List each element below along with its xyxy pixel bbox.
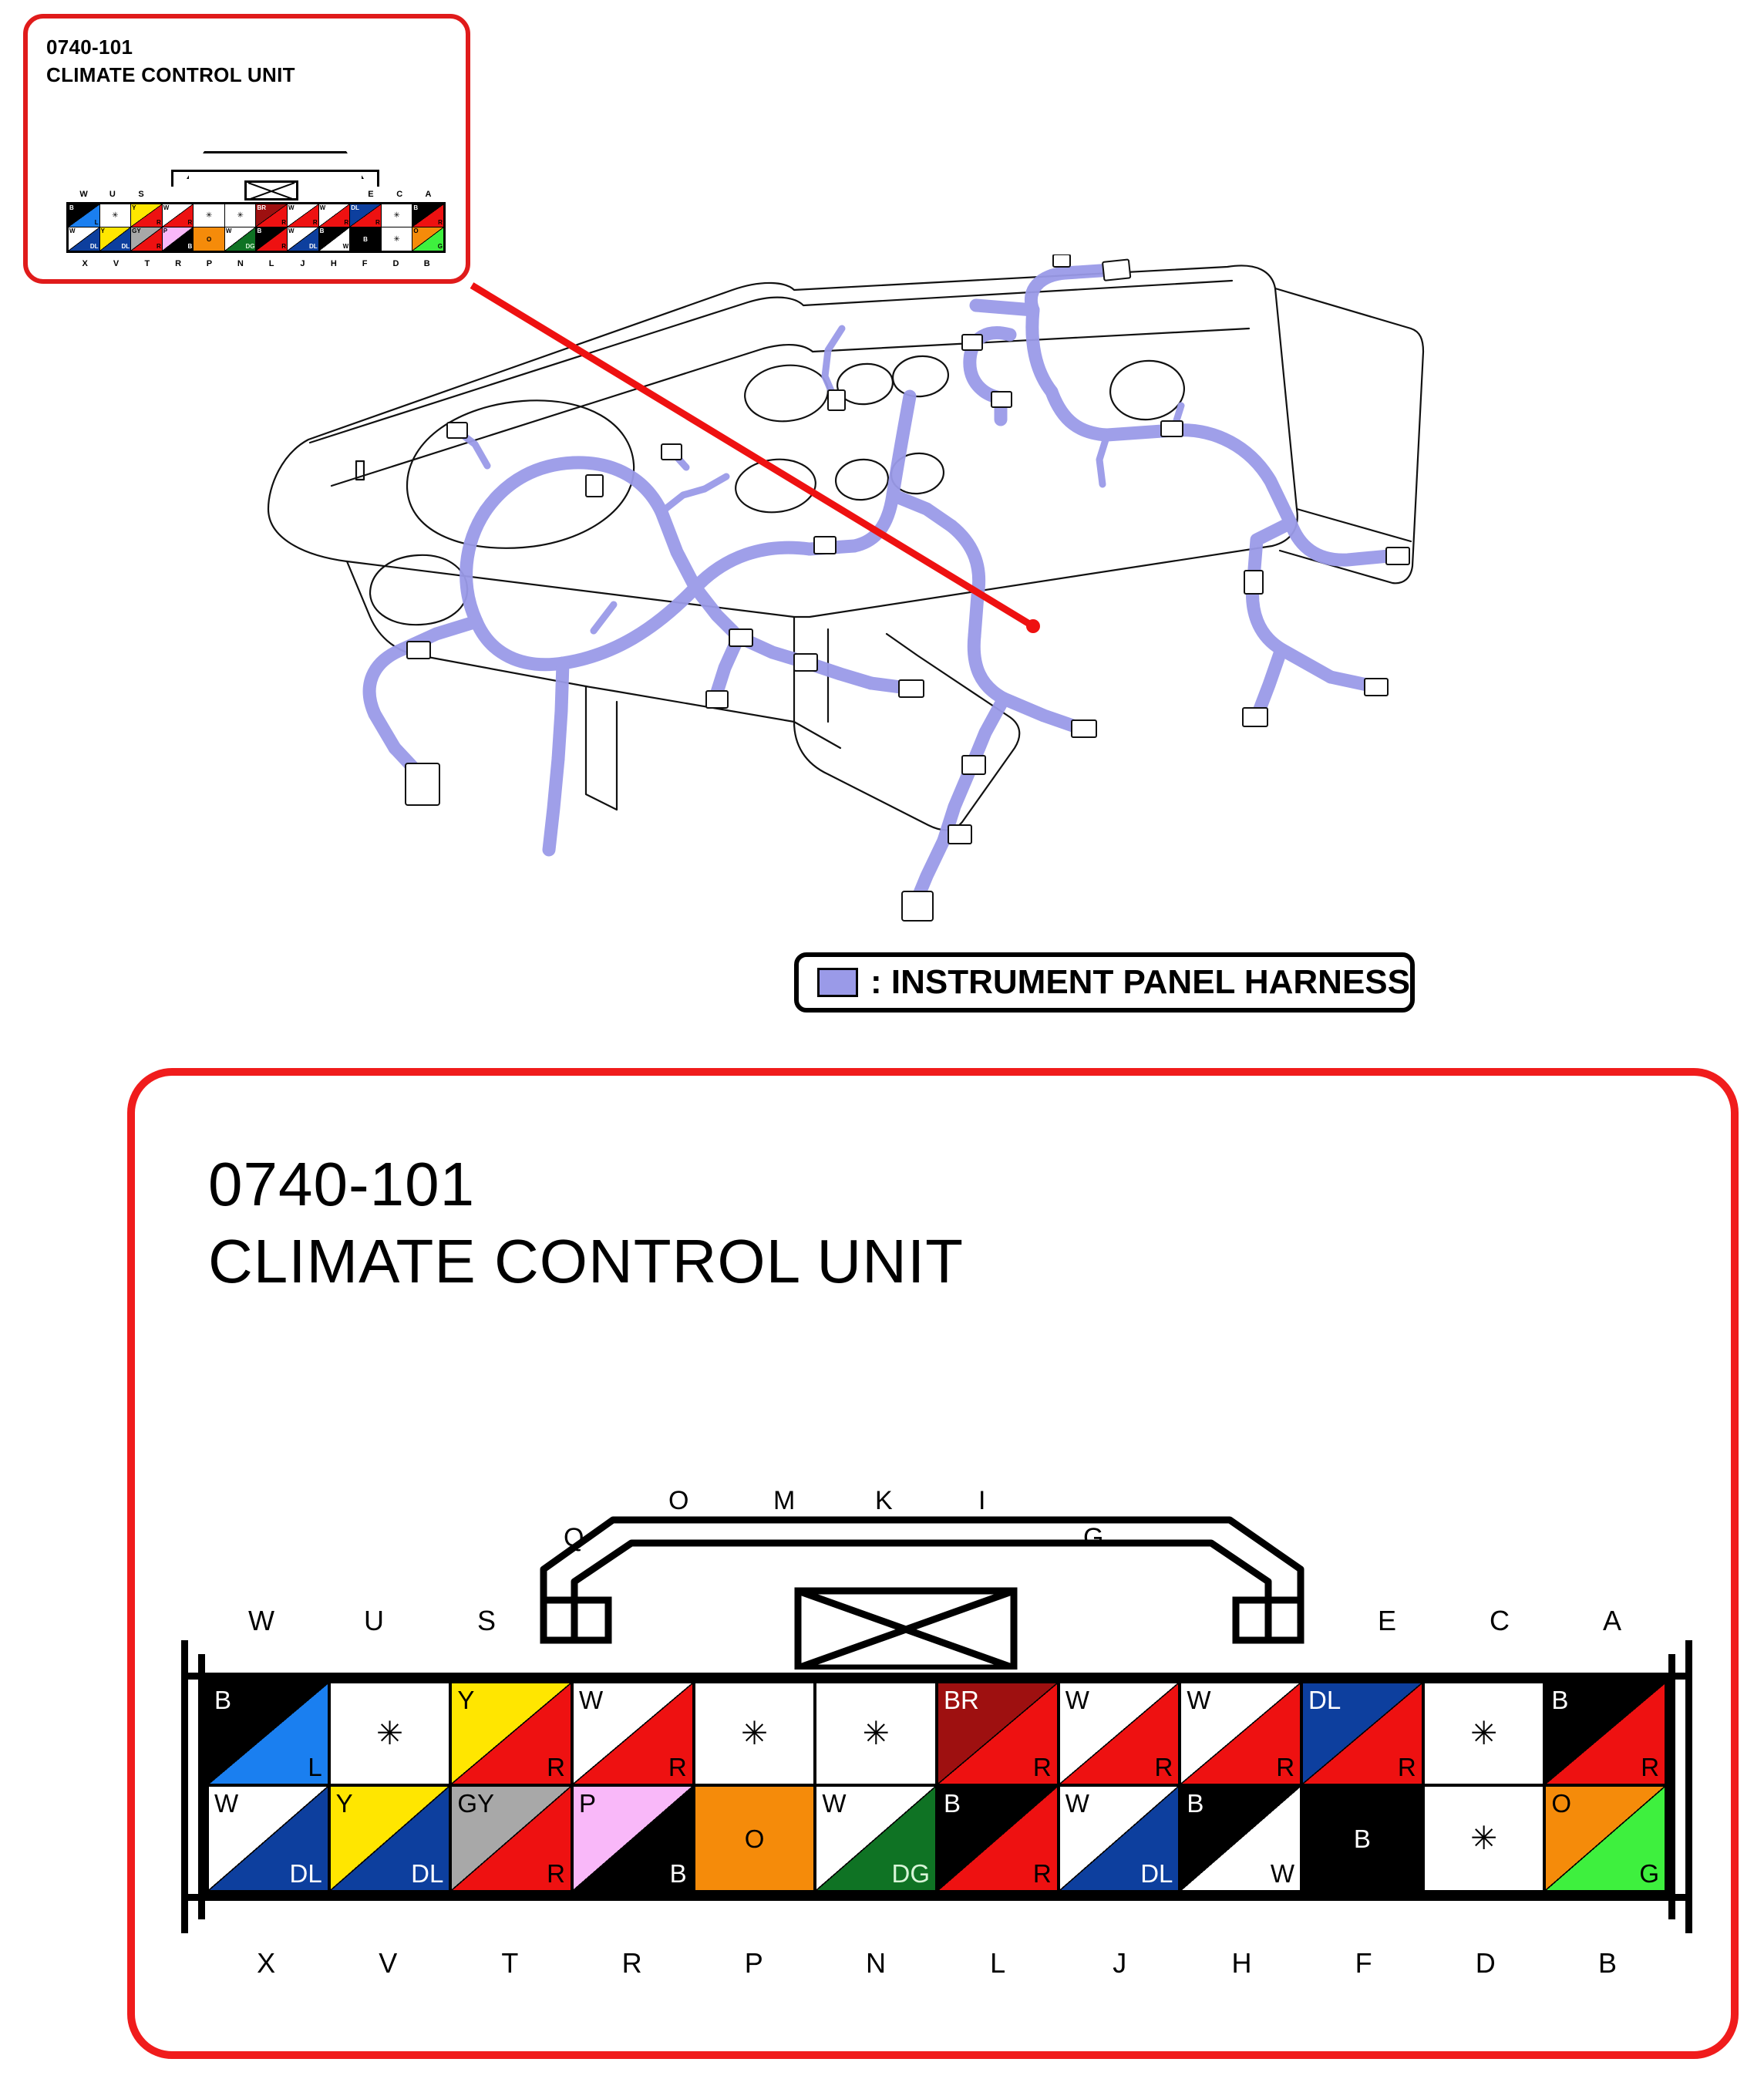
inset-pin-wire-trace-L: R <box>281 244 286 250</box>
inset-pin-cell-L: BR <box>256 227 288 251</box>
pin-cell-V: YDL <box>331 1787 453 1890</box>
inset-pin-cell-X: WDL <box>69 227 100 251</box>
top-pin-label-W: W <box>205 1605 318 1637</box>
pin-cell-H: BW <box>1181 1787 1303 1890</box>
pin-row-top: BL✳YRWR✳✳BRRWRWRDLR✳BR <box>209 1683 1665 1787</box>
inset-pin-cell-F: B <box>350 227 382 251</box>
pin-cell-T: GYR <box>452 1787 574 1890</box>
inset-pin-wire-primary-T: GY <box>132 228 141 234</box>
inset-pin-wire-primary-I: W <box>288 205 295 211</box>
pin-wire-trace-H: W <box>1271 1861 1294 1886</box>
connector-code-title: 0740-101 <box>208 1149 475 1220</box>
instrument-panel-illustration <box>254 254 1426 925</box>
connector-pin-bracket: WUSECA BL✳YRWR✳✳BRRWRWRDLR✳BR WDLYDLGYRP… <box>181 1640 1692 1933</box>
inset-pin-cell-S: YR <box>131 204 163 227</box>
inset-pin-wire-trace-I: R <box>313 220 318 226</box>
pin-cell-L: BR <box>938 1787 1060 1890</box>
inset-pin-wire-primary-V: Y <box>101 228 105 234</box>
bracket-right-outer <box>1685 1640 1692 1933</box>
pin-wire-trace-W: L <box>308 1754 321 1780</box>
inset-pin-cell-K: BRR <box>256 204 288 227</box>
inset-pin-cell-J: WDL <box>288 227 319 251</box>
bracket-right-inner <box>1668 1654 1675 1919</box>
legend-box: : INSTRUMENT PANEL HARNESS <box>794 952 1415 1013</box>
pin-wire-trace-I: R <box>1155 1754 1173 1780</box>
pin-cell-O: ✳ <box>695 1683 817 1787</box>
inset-pin-cell-G: WR <box>319 204 351 227</box>
inset-top-pin-label-W: W <box>69 190 98 199</box>
bottom-pin-label-B: B <box>1547 1947 1668 1980</box>
inset-pin-cell-P: O <box>194 227 225 251</box>
inset-pin-cell-O: ✳ <box>194 204 225 227</box>
inset-pin-wire-trace-B: G <box>438 244 443 250</box>
bottom-pin-label-J: J <box>1059 1947 1180 1980</box>
top-pin-label-A: A <box>1556 1605 1668 1637</box>
top-pin-label-E: E <box>1331 1605 1443 1637</box>
inset-pin-unused-star-icon: ✳ <box>382 204 412 227</box>
pin-wire-trace-G: R <box>1276 1754 1294 1780</box>
pin-wire-trace-K: R <box>1033 1754 1052 1780</box>
inset-pin-wire-primary-H: B <box>320 228 325 234</box>
inset-top-pin-label-U: U <box>98 190 126 199</box>
inset-pin-cell-Q: WR <box>163 204 194 227</box>
inset-pin-cell-C: ✳ <box>382 204 413 227</box>
pin-cell-B: OG <box>1546 1787 1665 1890</box>
inset-name-label: CLIMATE CONTROL UNIT <box>46 63 295 87</box>
inset-pin-wire-primary-X: W <box>69 228 76 234</box>
inset-top-pin-label-blank-7 <box>271 190 299 199</box>
inset-bottom-pin-label-B: B <box>412 259 443 268</box>
inset-top-pin-label-blank-3 <box>156 190 184 199</box>
bottom-pin-label-R: R <box>571 1947 693 1980</box>
inset-top-pin-label-C: C <box>385 190 414 199</box>
inset-bottom-pin-label-P: P <box>194 259 224 268</box>
inset-pin-cell-B: OG <box>412 227 443 251</box>
inset-pin-cell-D: ✳ <box>382 227 413 251</box>
pin-cell-U: ✳ <box>331 1683 453 1787</box>
inset-pin-cell-I: WR <box>288 204 319 227</box>
inset-pin-wire-primary-N: W <box>226 228 232 234</box>
pin-wire-primary-B: O <box>1551 1791 1571 1816</box>
pin-cell-X: WDL <box>209 1787 331 1890</box>
bottom-pin-label-X: X <box>205 1947 327 1980</box>
top-pin-label-blank-8 <box>1106 1605 1218 1637</box>
pin-cell-Q: WR <box>574 1683 695 1787</box>
inset-bottom-pin-label-N: N <box>225 259 256 268</box>
inset-pin-wire-color-F: B <box>350 227 381 251</box>
pin-wire-primary-L: B <box>944 1791 961 1816</box>
pin-cell-J: WDL <box>1060 1787 1182 1890</box>
pin-cell-C: ✳ <box>1425 1683 1547 1787</box>
inset-bottom-pin-label-H: H <box>318 259 349 268</box>
inset-pin-wire-trace-H: W <box>343 244 349 250</box>
bracket-left-inner <box>198 1654 205 1919</box>
inset-pin-wire-trace-V: DL <box>121 244 130 250</box>
legend-label: : INSTRUMENT PANEL HARNESS <box>870 963 1410 1002</box>
bracket-left-outer <box>181 1640 188 1933</box>
inset-pin-wire-trace-K: R <box>281 220 286 226</box>
pin-wire-primary-Q: W <box>579 1687 603 1713</box>
pin-cell-K: BRR <box>938 1683 1060 1787</box>
pin-cell-A: BR <box>1546 1683 1665 1787</box>
pin-wire-trace-V: DL <box>411 1861 443 1886</box>
inset-pin-unused-star-icon: ✳ <box>194 204 224 227</box>
inset-pin-cell-M: ✳ <box>225 204 257 227</box>
hood-label-G: G <box>1083 1523 1103 1553</box>
inset-pin-row-top: BL✳YRWR✳✳BRRWRWRDLR✳BR <box>69 204 443 227</box>
pin-wire-primary-X: W <box>214 1791 238 1816</box>
top-pin-label-S: S <box>430 1605 543 1637</box>
connector-name-title: CLIMATE CONTROL UNIT <box>208 1226 964 1297</box>
inset-bottom-pin-labels: XVTRPNLJHFDB <box>69 259 443 268</box>
inset-top-pin-label-blank-8 <box>299 190 328 199</box>
bottom-pin-label-V: V <box>327 1947 449 1980</box>
hood-label-O: O <box>668 1486 688 1516</box>
inset-pin-wire-trace-W: L <box>95 220 99 226</box>
top-pin-label-blank-3 <box>543 1605 655 1637</box>
inset-bottom-pin-label-F: F <box>349 259 380 268</box>
inset-pin-wire-trace-X: DL <box>90 244 99 250</box>
pin-wire-trace-B: G <box>1639 1861 1659 1886</box>
inset-pin-wire-primary-W: B <box>69 205 74 211</box>
pin-wire-trace-E: R <box>1398 1754 1416 1780</box>
bottom-pin-label-F: F <box>1303 1947 1425 1980</box>
inset-pin-unused-star-icon: ✳ <box>100 204 131 227</box>
bottom-pin-label-L: L <box>937 1947 1059 1980</box>
top-pin-label-U: U <box>318 1605 430 1637</box>
bottom-pin-label-P: P <box>693 1947 815 1980</box>
inset-bottom-pin-label-L: L <box>256 259 287 268</box>
pin-cell-D: ✳ <box>1425 1787 1547 1890</box>
pin-wire-primary-V: Y <box>336 1791 353 1816</box>
pin-wire-primary-T: GY <box>457 1791 494 1816</box>
inset-pin-cell-A: BR <box>412 204 443 227</box>
inset-pin-wire-trace-T: R <box>157 244 161 250</box>
pin-unused-star-icon: ✳ <box>331 1683 449 1784</box>
inset-pin-wire-primary-B: O <box>413 228 418 234</box>
inset-pin-wire-primary-K: BR <box>257 205 266 211</box>
pin-wire-primary-E: DL <box>1308 1687 1341 1713</box>
inset-pin-wire-primary-Q: W <box>163 205 170 211</box>
inset-connector-diagram: WUSECA BL✳YRWR✳✳BRRWRWRDLR✳BR WDLYDLGYRP… <box>56 134 456 273</box>
bottom-pin-label-D: D <box>1425 1947 1547 1980</box>
pin-wire-primary-I: W <box>1065 1687 1089 1713</box>
inset-pin-wire-trace-Q: R <box>188 220 193 226</box>
pin-wire-primary-A: B <box>1551 1687 1568 1713</box>
inset-pin-cell-N: WDG <box>225 227 257 251</box>
pin-cell-G: WR <box>1181 1683 1303 1787</box>
pin-wire-primary-H: B <box>1187 1791 1203 1816</box>
inset-pin-cell-E: DLR <box>350 204 382 227</box>
top-pin-label-C: C <box>1443 1605 1556 1637</box>
pin-wire-trace-S: R <box>547 1754 565 1780</box>
pin-unused-star-icon: ✳ <box>1425 1787 1543 1890</box>
top-pin-label-blank-7 <box>993 1605 1106 1637</box>
inset-top-pin-label-blank-5 <box>213 190 241 199</box>
inset-pin-unused-star-icon: ✳ <box>382 227 412 251</box>
inset-pin-wire-color-P: O <box>194 227 224 251</box>
pin-cell-W: BL <box>209 1683 331 1787</box>
hood-label-I: I <box>978 1486 985 1516</box>
inset-pin-wire-primary-J: W <box>288 228 295 234</box>
inset-pin-cell-V: YDL <box>100 227 132 251</box>
bottom-pin-label-T: T <box>449 1947 571 1980</box>
pin-row-bottom: WDLYDLGYRPBOWDGBRWDLBWB✳OG <box>209 1787 1665 1890</box>
inset-bottom-pin-label-R: R <box>163 259 194 268</box>
inset-pin-wire-trace-G: R <box>344 220 348 226</box>
inset-pin-cell-U: ✳ <box>100 204 132 227</box>
inset-code-label: 0740-101 <box>46 35 133 59</box>
inset-pin-wire-trace-N: DG <box>245 244 254 250</box>
bracket-top-rail <box>181 1673 1692 1680</box>
pin-wire-primary-K: BR <box>944 1687 979 1713</box>
pin-wire-primary-W: B <box>214 1687 231 1713</box>
inset-pin-cell-H: BW <box>319 227 351 251</box>
top-pin-label-blank-9 <box>1218 1605 1331 1637</box>
pin-cell-P: O <box>695 1787 817 1890</box>
inset-pin-wire-primary-E: DL <box>351 205 359 211</box>
inset-top-pin-label-E: E <box>356 190 385 199</box>
top-pin-label-row: WUSECA <box>205 1605 1668 1637</box>
pin-wire-trace-R: B <box>670 1861 687 1886</box>
pin-wire-color-P: O <box>695 1787 814 1890</box>
inset-pin-wire-trace-R: B <box>188 244 193 250</box>
inset-pin-wire-trace-E: R <box>375 220 380 226</box>
pin-wire-trace-A: R <box>1641 1754 1659 1780</box>
inset-pin-wire-primary-R: P <box>163 228 167 234</box>
bottom-pin-label-row: XVTRPNLJHFDB <box>205 1947 1668 1980</box>
inset-pin-row-bottom: WDLYDLGYRPBOWDGBRWDLBWB✳OG <box>69 227 443 251</box>
connector-pin-grid: BL✳YRWR✳✳BRRWRWRDLR✳BR WDLYDLGYRPBOWDGBR… <box>205 1680 1668 1894</box>
inset-pin-wire-primary-S: Y <box>132 205 136 211</box>
bracket-bottom-rail <box>181 1894 1692 1901</box>
pin-unused-star-icon: ✳ <box>695 1683 814 1784</box>
pin-wire-primary-R: P <box>579 1791 596 1816</box>
inset-top-pin-label-blank-6 <box>241 190 270 199</box>
inset-pin-cell-W: BL <box>69 204 100 227</box>
inset-callout-box: 0740-101 CLIMATE CONTROL UNIT WUSECA BL✳… <box>23 14 470 284</box>
connector-detail-panel: 0740-101 CLIMATE CONTROL UNIT Q O M K I … <box>127 1068 1739 2059</box>
pin-wire-trace-N: DG <box>892 1861 931 1886</box>
top-pin-label-blank-4 <box>655 1605 768 1637</box>
pin-cell-R: PB <box>574 1787 695 1890</box>
hood-label-Q: Q <box>564 1523 584 1553</box>
pin-cell-M: ✳ <box>816 1683 938 1787</box>
pin-unused-star-icon: ✳ <box>816 1683 935 1784</box>
inset-bottom-pin-label-T: T <box>132 259 163 268</box>
hood-label-M: M <box>773 1486 795 1516</box>
inset-bottom-pin-label-X: X <box>69 259 100 268</box>
inset-pin-wire-trace-A: R <box>438 220 443 226</box>
connector-assembly: Q O M K I G WUSECA BL✳YRWR✳✳BRRWRWRDLR✳B… <box>181 1477 1692 1986</box>
inset-pin-grid: BL✳YRWR✳✳BRRWRWRDLR✳BR WDLYDLGYRPBOWDGBR… <box>66 202 446 253</box>
bottom-pin-label-H: H <box>1180 1947 1302 1980</box>
inset-bottom-pin-label-J: J <box>287 259 318 268</box>
pin-cell-N: WDG <box>816 1787 938 1890</box>
harness-color-swatch <box>817 968 858 997</box>
inset-top-pin-labels: WUSECA <box>69 190 443 199</box>
pin-wire-color-F: B <box>1303 1787 1422 1890</box>
top-pin-label-blank-6 <box>880 1605 993 1637</box>
inset-pin-cell-R: PB <box>163 227 194 251</box>
pin-wire-primary-N: W <box>822 1791 846 1816</box>
inset-pin-wire-trace-S: R <box>157 220 161 226</box>
pin-wire-primary-S: Y <box>457 1687 474 1713</box>
inset-pin-wire-primary-L: B <box>257 228 261 234</box>
pin-cell-E: DLR <box>1303 1683 1425 1787</box>
pin-cell-I: WR <box>1060 1683 1182 1787</box>
pin-wire-trace-X: DL <box>289 1861 321 1886</box>
hood-label-K: K <box>875 1486 893 1516</box>
inset-pin-wire-trace-J: DL <box>309 244 318 250</box>
inset-top-pin-label-S: S <box>126 190 155 199</box>
pin-cell-F: B <box>1303 1787 1425 1890</box>
inset-top-pin-label-A: A <box>414 190 443 199</box>
inset-bottom-pin-label-V: V <box>100 259 131 268</box>
pin-wire-trace-L: R <box>1033 1861 1052 1886</box>
inset-pin-unused-star-icon: ✳ <box>225 204 256 227</box>
inset-pin-wire-primary-A: B <box>413 205 418 211</box>
inset-top-pin-label-blank-4 <box>184 190 213 199</box>
inset-pin-cell-T: GYR <box>131 227 163 251</box>
inset-top-pin-label-blank-9 <box>328 190 356 199</box>
pin-unused-star-icon: ✳ <box>1425 1683 1543 1784</box>
pin-cell-S: YR <box>452 1683 574 1787</box>
pin-wire-trace-Q: R <box>668 1754 687 1780</box>
pin-wire-trace-J: DL <box>1140 1861 1173 1886</box>
pin-wire-primary-G: W <box>1187 1687 1210 1713</box>
pin-wire-primary-J: W <box>1065 1791 1089 1816</box>
pin-wire-trace-T: R <box>547 1861 565 1886</box>
inset-pin-wire-primary-G: W <box>320 205 326 211</box>
top-pin-label-blank-5 <box>768 1605 880 1637</box>
bottom-pin-label-N: N <box>815 1947 937 1980</box>
inset-bottom-pin-label-D: D <box>380 259 411 268</box>
